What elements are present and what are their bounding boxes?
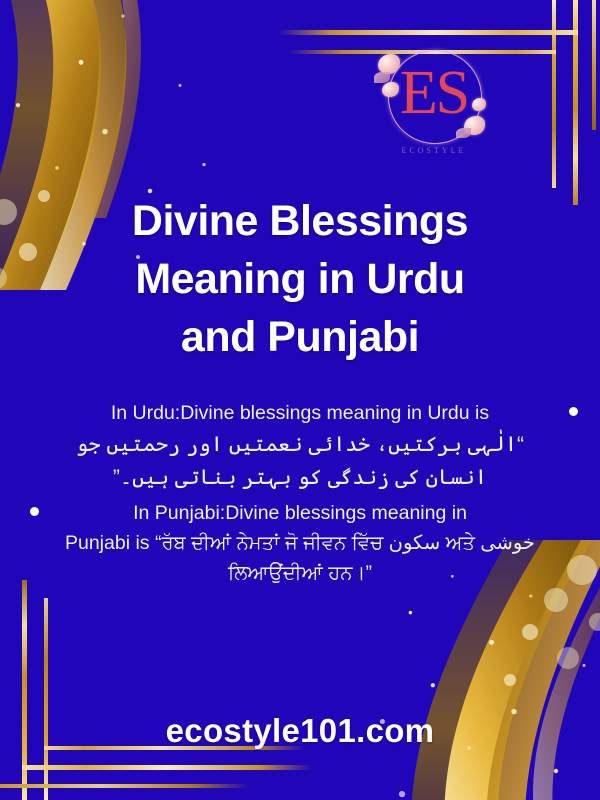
- frame-line-top-right-vertical-2: [552, 0, 556, 188]
- frame-line-top-right-vertical: [573, 0, 578, 205]
- list-item-quote-urdu: “الٰہی برکتیں، خدائی نعمتیں اور رحمتیں ج…: [0, 428, 600, 494]
- bullet-dot-icon: [569, 407, 578, 416]
- frame-line-top-right-horizontal: [278, 30, 578, 35]
- frame-line-top-right-vertical-3: [592, 0, 596, 130]
- definition-list: In Urdu:Divine blessings meaning in Urdu…: [0, 398, 600, 592]
- page-title-line-1: Divine Blessings: [0, 192, 600, 250]
- frame-line-bottom-left-vertical-2: [44, 598, 48, 800]
- brand-logo[interactable]: ES ECOSTYLE: [372, 42, 496, 180]
- poster-canvas: ES ECOSTYLE Divine Blessings Meaning in …: [0, 0, 600, 800]
- logo-wordmark: ECOSTYLE: [372, 146, 496, 155]
- bullet-dot-icon: [30, 507, 39, 516]
- logo-monogram: ES: [372, 54, 496, 132]
- frame-line-bottom-left-vertical: [22, 580, 27, 800]
- list-item-intro-punjabi: In Punjabi:Divine blessings meaning in: [0, 498, 600, 528]
- list-item-intro-urdu: In Urdu:Divine blessings meaning in Urdu…: [0, 398, 600, 428]
- list-item: In Urdu:Divine blessings meaning in Urdu…: [0, 398, 600, 494]
- page-title-line-2: Meaning in Urdu: [0, 250, 600, 308]
- frame-line-bottom-left-horizontal-3: [0, 784, 250, 788]
- page-title-line-3: and Punjabi: [0, 308, 600, 366]
- frame-line-bottom-left-horizontal: [22, 765, 312, 770]
- website-footer[interactable]: ecostyle101.com: [0, 712, 600, 750]
- list-item-quote-punjabi: Punjabi is “ਰੱਬ ਦੀਆਂ ਨੇਮਤਾਂ ਜੋ ਜੀਵਨ ਵਿੱਚ…: [0, 528, 600, 588]
- list-item: In Punjabi:Divine blessings meaning in P…: [0, 498, 600, 588]
- page-title: Divine Blessings Meaning in Urdu and Pun…: [0, 192, 600, 366]
